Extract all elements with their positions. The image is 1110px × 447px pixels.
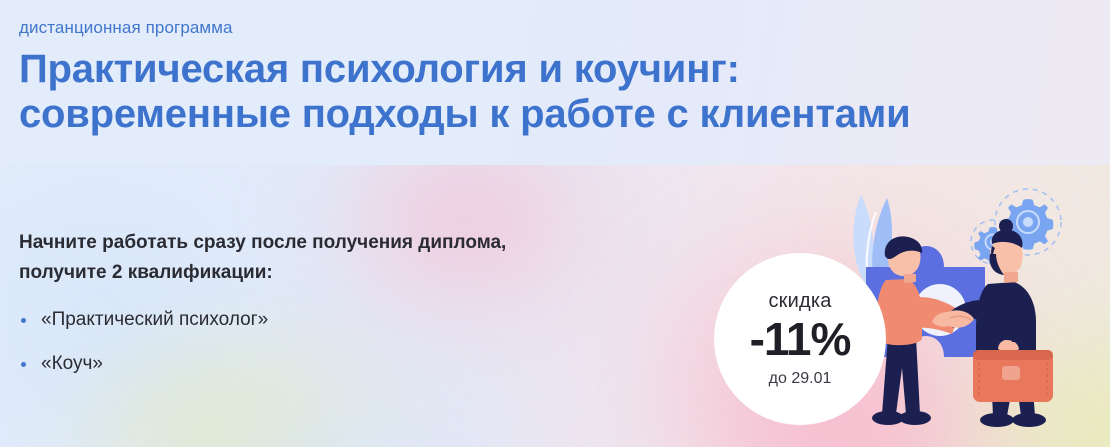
page-title-line-2: современные подходы к работе с клиентами [19,92,779,137]
qualifications-list: «Практический психолог» «Коуч» [19,308,268,376]
discount-label: скидка [768,290,831,312]
program-format-label: дистанционная программа [19,0,779,39]
lead-paragraph: Начните работать сразу после получения д… [19,228,579,288]
discount-badge: скидка -11% до 29.01 [714,253,886,425]
list-item: «Практический психолог» [19,308,268,332]
discount-deadline: до 29.01 [769,370,832,388]
page-title: Практическая психология и коучинг: совре… [19,39,779,137]
list-item: «Коуч» [19,352,268,376]
promo-banner: дистанционная программа Практическая пси… [0,0,1110,447]
qualification-label: «Практический психолог» [41,309,268,330]
qualification-label: «Коуч» [41,353,103,374]
headline-block: дистанционная программа Практическая пси… [19,0,779,137]
page-title-line-1: Практическая психология и коучинг: [19,47,740,91]
bullet-dot-icon [21,318,26,323]
bullet-dot-icon [21,362,26,367]
discount-value: -11% [750,314,851,364]
